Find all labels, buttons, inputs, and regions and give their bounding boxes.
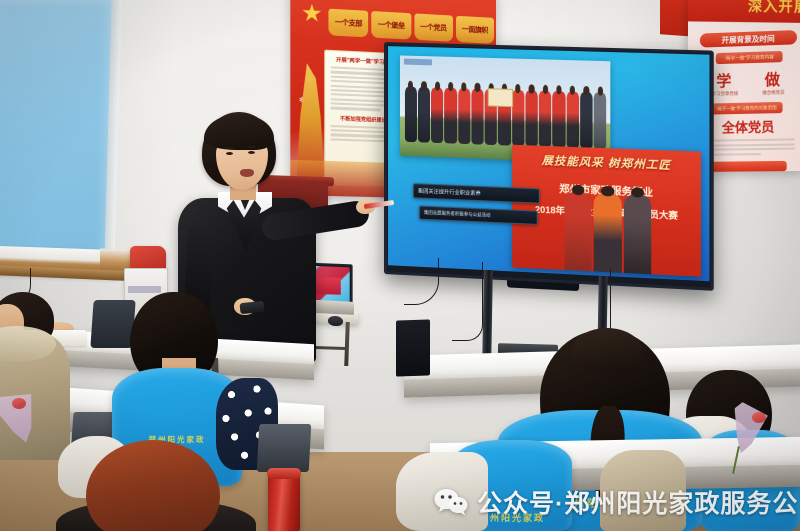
party-emblem-icon: ★: [301, 1, 328, 27]
poster-big-characters: 学 做: [700, 67, 797, 92]
slide-bullet-list: 集团关注提升行业职业素养 集团志愿服务者积极参与公益活动: [413, 183, 540, 232]
poster-small-labels: 学习党章党规 做合格党员: [700, 89, 797, 97]
wall-television[interactable]: 展技能风采 树郑州工匠 郑州市家政服务行业 2018年度职业技能家政服务员大赛 …: [384, 42, 714, 291]
slogan-cell: 一个堡垒: [372, 11, 411, 40]
poster-body-text: [702, 136, 795, 157]
tv-screen[interactable]: 展技能风采 树郑州工匠 郑州市家政服务行业 2018年度职业技能家政服务员大赛 …: [388, 46, 710, 281]
presenter-eyebrow: [247, 146, 256, 148]
tv-stand-pole-left: [482, 270, 493, 365]
banner-people: [565, 191, 652, 274]
slide-award-photo: 展技能风采 树郑州工匠 郑州市家政服务行业 2018年度职业技能家政服务员大赛: [512, 145, 701, 276]
poster-pill-label-2: "两学一做"学习教育的对象范围: [710, 102, 783, 115]
presenter-mouth: [240, 169, 254, 177]
poster-section-bar: 开展背景及时间: [700, 30, 797, 48]
flower-bloom: [12, 398, 26, 409]
slogan-cell: 一面旗帜: [456, 16, 494, 44]
poster-big-characters-2: 全体党员: [700, 116, 797, 137]
presenter-eye: [248, 151, 255, 154]
poster-label-right: 做合格党员: [762, 90, 784, 97]
attendee-khaki-shoulder: [600, 450, 686, 531]
thermos-lid: [267, 468, 301, 479]
attendee-white-sleeve: [396, 452, 488, 531]
wall-box-slot: [128, 286, 161, 293]
presenter-fringe: [204, 114, 274, 150]
award-plaque: [488, 88, 513, 107]
photo-logo: [404, 58, 432, 65]
chair[interactable]: [257, 424, 312, 472]
banner-line-1: 展技能风采 树郑州工匠: [520, 151, 694, 174]
red-thermos-cup: [268, 472, 300, 531]
slide-bullet: 集团志愿服务者积极参与公益活动: [419, 205, 538, 224]
presenter-eyebrow: [225, 147, 234, 149]
classroom-photo: ★ 一个支部 一个堡垒 一个党员 一面旗帜 ✻ ✻ 开展"两学一做"学习教育实施…: [0, 0, 800, 531]
window-blind: [0, 0, 118, 260]
flower-bloom: [752, 412, 766, 423]
chair-backrest[interactable]: [90, 300, 135, 348]
poster-pill-label: "两学一做"学习教育内容: [716, 51, 783, 64]
poster-label-left: 学习党章党规: [712, 91, 738, 98]
poster-char-zuo: 做: [765, 68, 780, 90]
slogan-cell: 一个党员: [414, 13, 453, 41]
poster-char-xue: 学: [716, 69, 731, 91]
slogan-cell: 一个支部: [328, 9, 368, 38]
attendee-hair-bun: [572, 328, 642, 374]
spare-monitor: [396, 319, 430, 376]
presenter-eye: [226, 152, 233, 155]
poster-top-banner: 深入开展: [688, 0, 800, 23]
poster-bottom-bar: [706, 161, 787, 172]
tv-cable: [452, 262, 483, 341]
